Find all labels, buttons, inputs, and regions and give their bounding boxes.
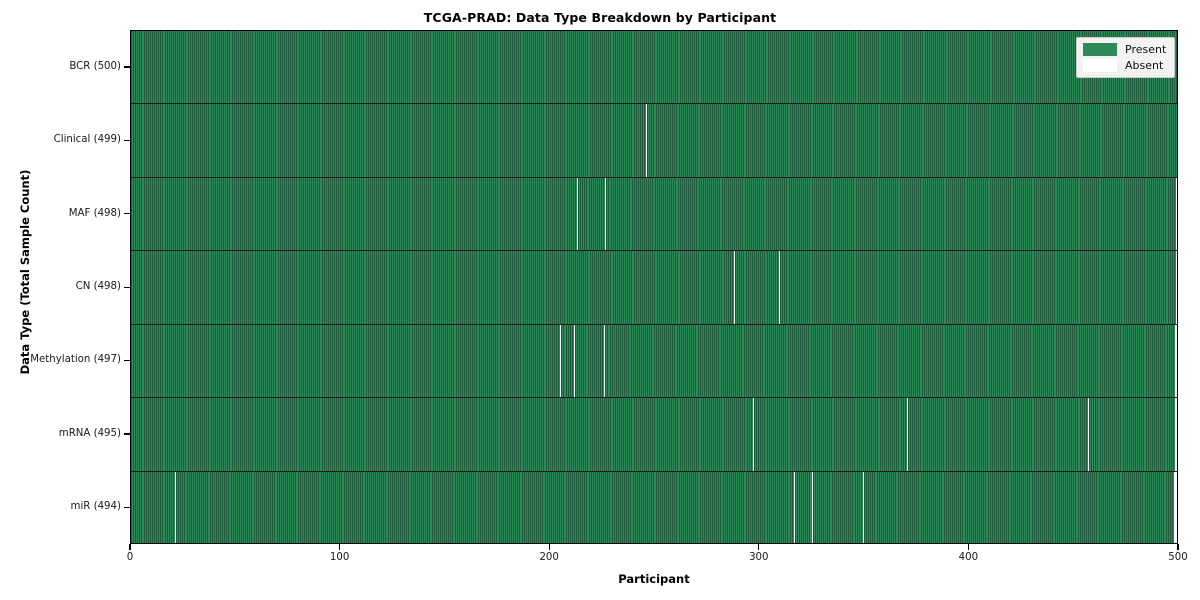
heatmap-cell-present (1172, 472, 1174, 544)
heatmap-row (131, 104, 1177, 177)
legend-entry[interactable]: Present (1083, 43, 1166, 56)
heatmap-cell-present (1173, 325, 1175, 397)
legend-entry[interactable]: Absent (1083, 59, 1166, 72)
heatmap-cell-present (1176, 31, 1177, 103)
x-axis-tick-mark (339, 544, 340, 550)
heatmap-row-cells (131, 104, 1177, 176)
y-axis-tick: CN (498) (0, 279, 130, 295)
heatmap-row-cells (131, 31, 1177, 103)
x-axis-tick-label: 200 (509, 552, 589, 563)
y-axis-tick-label: CN (498) (76, 279, 121, 295)
heatmap-cell-present (1174, 178, 1176, 250)
y-axis-tick-label: miR (494) (71, 499, 121, 515)
heatmap-cell-present (1175, 104, 1177, 176)
heatmap-row-cells (131, 251, 1177, 323)
heatmap-row-cells (131, 325, 1177, 397)
x-axis-tick-label: 300 (719, 552, 799, 563)
heatmap-cell-present (1174, 251, 1176, 323)
x-axis-tick-mark (549, 544, 550, 550)
present-swatch-icon (1083, 43, 1117, 56)
x-axis-label: Participant (130, 572, 1178, 586)
x-axis-tick-group: 0100200300400500 (130, 544, 1178, 570)
heatmap-plot-area (130, 30, 1178, 544)
y-axis-tick: BCR (500) (0, 59, 130, 75)
heatmap-row (131, 472, 1177, 544)
y-axis-tick-label: Clinical (499) (54, 132, 121, 148)
y-axis-tick-group: BCR (500)Clinical (499)MAF (498)CN (498)… (0, 30, 130, 544)
heatmap-row (131, 251, 1177, 324)
x-axis-tick-label: 400 (928, 552, 1008, 563)
y-axis-tick: mRNA (495) (0, 426, 130, 442)
y-axis-tick-label: mRNA (495) (59, 426, 121, 442)
chart-title: TCGA-PRAD: Data Type Breakdown by Partic… (0, 10, 1200, 25)
heatmap-cell-present (1173, 398, 1175, 470)
chart-legend: PresentAbsent (1076, 37, 1175, 78)
x-axis-tick-label: 100 (300, 552, 380, 563)
x-axis-tick-mark (968, 544, 969, 550)
heatmap-row (131, 31, 1177, 104)
y-axis-tick-label: MAF (498) (69, 206, 121, 222)
legend-entry-label: Absent (1125, 59, 1163, 72)
legend-entry-label: Present (1125, 43, 1166, 56)
y-axis-tick-label: Methylation (497) (30, 352, 121, 368)
x-axis-tick-mark (758, 544, 759, 550)
y-axis-tick: Clinical (499) (0, 132, 130, 148)
x-axis-tick-mark (129, 544, 130, 550)
y-axis-tick: Methylation (497) (0, 352, 130, 368)
x-axis-tick-label: 0 (90, 552, 170, 563)
y-axis-tick-label: BCR (500) (69, 59, 121, 75)
y-axis-tick: MAF (498) (0, 206, 130, 222)
x-axis-tick-mark (1177, 544, 1178, 550)
heatmap-row (131, 178, 1177, 251)
heatmap-row (131, 398, 1177, 471)
y-axis-tick: miR (494) (0, 499, 130, 515)
heatmap-row-cells (131, 472, 1177, 544)
x-axis-tick-label: 500 (1138, 552, 1200, 563)
chart-figure: TCGA-PRAD: Data Type Breakdown by Partic… (0, 0, 1200, 600)
heatmap-row-cells (131, 398, 1177, 470)
heatmap-row (131, 325, 1177, 398)
absent-swatch-icon (1083, 59, 1117, 72)
heatmap-row-cells (131, 178, 1177, 250)
